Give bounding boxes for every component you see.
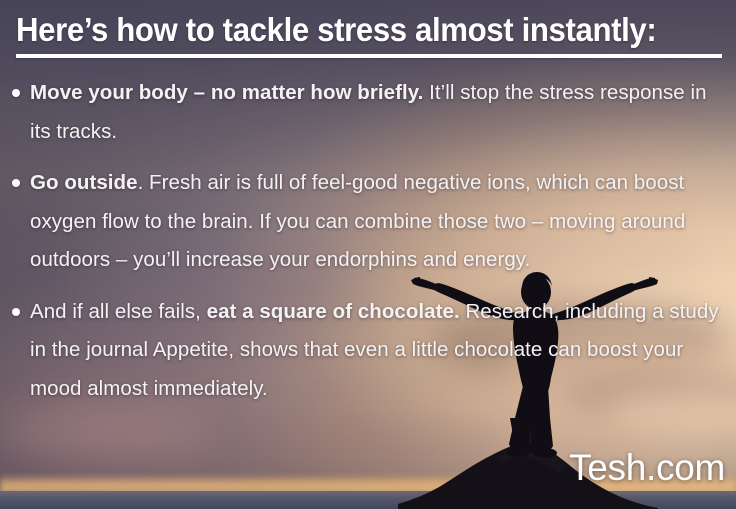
tip-bold-lead: Go outside bbox=[30, 171, 138, 194]
bullet-dot-icon bbox=[12, 179, 20, 187]
page-title: Here’s how to tackle stress almost insta… bbox=[16, 10, 683, 50]
list-item: Go outside. Fresh air is full of feel-go… bbox=[12, 164, 728, 280]
list-item: Move your body – no matter how briefly. … bbox=[12, 74, 728, 151]
bullet-dot-icon bbox=[12, 308, 20, 316]
title-underline-rule bbox=[16, 54, 722, 58]
tip-bold-lead: Move your body – no matter how briefly. bbox=[30, 81, 423, 104]
tips-list: Move your body – no matter how briefly. … bbox=[12, 74, 728, 420]
site-watermark: Tesh.com bbox=[569, 449, 725, 486]
tip-lead-text: And if all else fails, bbox=[30, 300, 207, 323]
bullet-dot-icon bbox=[12, 89, 20, 97]
stress-tips-poster: Here’s how to tackle stress almost insta… bbox=[0, 0, 736, 509]
list-item: And if all else fails, eat a square of c… bbox=[12, 293, 728, 409]
tip-bold-phrase: eat a square of chocolate. bbox=[207, 300, 460, 323]
